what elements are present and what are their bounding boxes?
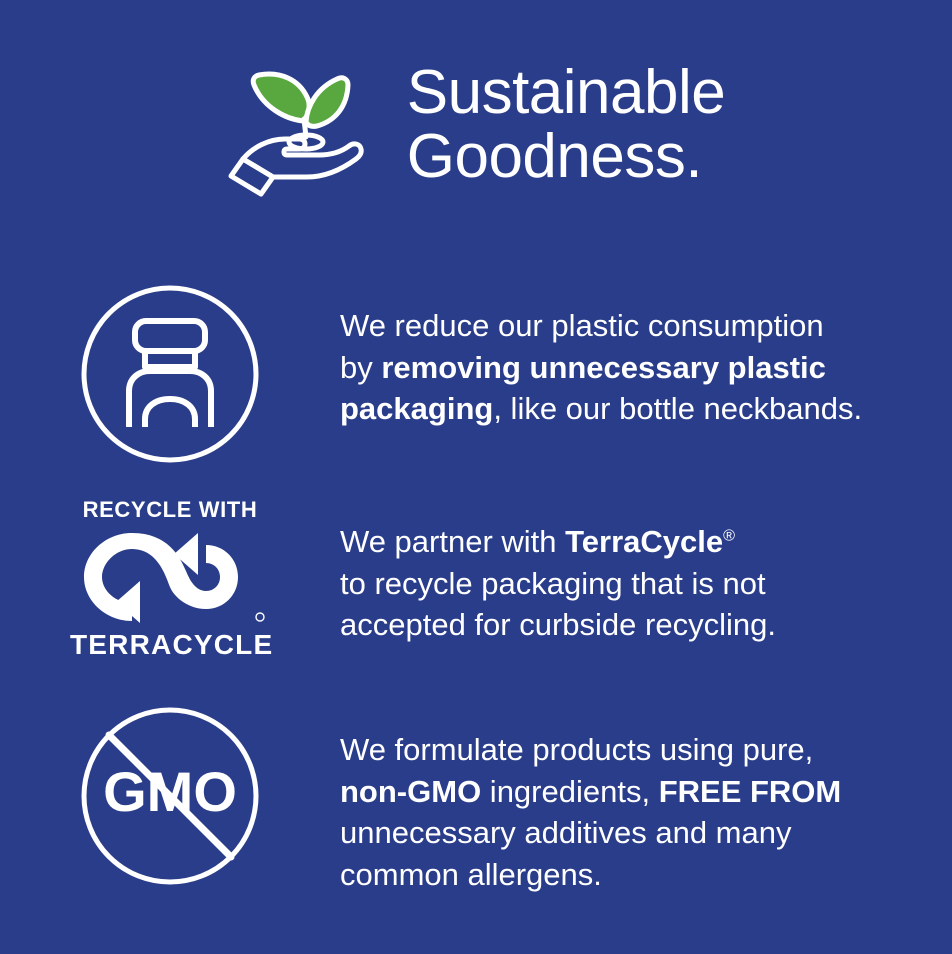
- feature-icon-slot: GMO: [0, 705, 340, 887]
- plain-text: accepted for curbside recycling.: [340, 607, 776, 642]
- header-banner: Sustainable Goodness.: [0, 0, 952, 250]
- gmo-label: GMO: [103, 760, 237, 823]
- plain-text: We reduce our plastic consumption: [340, 308, 824, 343]
- no-gmo-icon: GMO: [79, 705, 261, 887]
- text-line: packaging, like our bottle neckbands.: [340, 388, 938, 430]
- title-line-1: Sustainable: [407, 61, 726, 125]
- registered-mark: ®: [723, 527, 735, 545]
- plain-text: by: [340, 350, 381, 385]
- feature-row-plastic: We reduce our plastic consumptionby remo…: [0, 283, 952, 473]
- text-line: by removing unnecessary plastic: [340, 347, 938, 389]
- plain-text: , like our bottle neckbands.: [493, 391, 862, 426]
- text-line: unnecessary additives and many: [340, 812, 938, 854]
- text-line: We reduce our plastic consumption: [340, 305, 938, 347]
- plain-text: common allergens.: [340, 857, 602, 892]
- emphasis-text: TerraCycle: [565, 524, 723, 559]
- feature-icon-slot: [0, 283, 340, 465]
- infinity-recycle-icon: [70, 529, 270, 625]
- feature-icon-slot: RECYCLE WITH TERRACYCLE: [0, 495, 340, 661]
- text-line: We partner with TerraCycle®: [340, 521, 938, 563]
- plain-text: We partner with: [340, 524, 565, 559]
- plain-text: ingredients,: [481, 774, 659, 809]
- plain-text: We formulate products using pure,: [340, 732, 813, 767]
- text-line: common allergens.: [340, 854, 938, 896]
- header-content: Sustainable Goodness.: [227, 49, 726, 201]
- text-line: non-GMO ingredients, FREE FROM: [340, 771, 938, 813]
- feature-text-nongmo: We formulate products using pure,non-GMO…: [340, 705, 952, 895]
- title-line-2: Goodness.: [407, 125, 726, 189]
- emphasis-text: removing unnecessary plastic: [381, 350, 826, 385]
- feature-text-plastic: We reduce our plastic consumptionby remo…: [340, 283, 952, 430]
- sprout-in-hand-icon: [227, 49, 379, 201]
- page-title: Sustainable Goodness.: [407, 61, 726, 190]
- emphasis-text: packaging: [340, 391, 493, 426]
- text-line: We formulate products using pure,: [340, 729, 938, 771]
- terracycle-logo: RECYCLE WITH TERRACYCLE: [70, 495, 270, 661]
- emphasis-text: non-GMO: [340, 774, 481, 809]
- plain-text: unnecessary additives and many: [340, 815, 791, 850]
- emphasis-text: FREE FROM: [659, 774, 842, 809]
- terracycle-top-label: RECYCLE WITH: [70, 497, 270, 523]
- plain-text: to recycle packaging that is not: [340, 566, 766, 601]
- terracycle-bottom-label: TERRACYCLE: [70, 629, 270, 661]
- feature-row-terracycle: RECYCLE WITH TERRACYCLE We partner with …: [0, 495, 952, 685]
- bottle-neckband-icon: [79, 283, 261, 465]
- feature-row-nongmo: GMO We formulate products using pure,non…: [0, 705, 952, 905]
- feature-text-terracycle: We partner with TerraCycle®to recycle pa…: [340, 495, 952, 646]
- text-line: to recycle packaging that is not: [340, 563, 938, 605]
- text-line: accepted for curbside recycling.: [340, 604, 938, 646]
